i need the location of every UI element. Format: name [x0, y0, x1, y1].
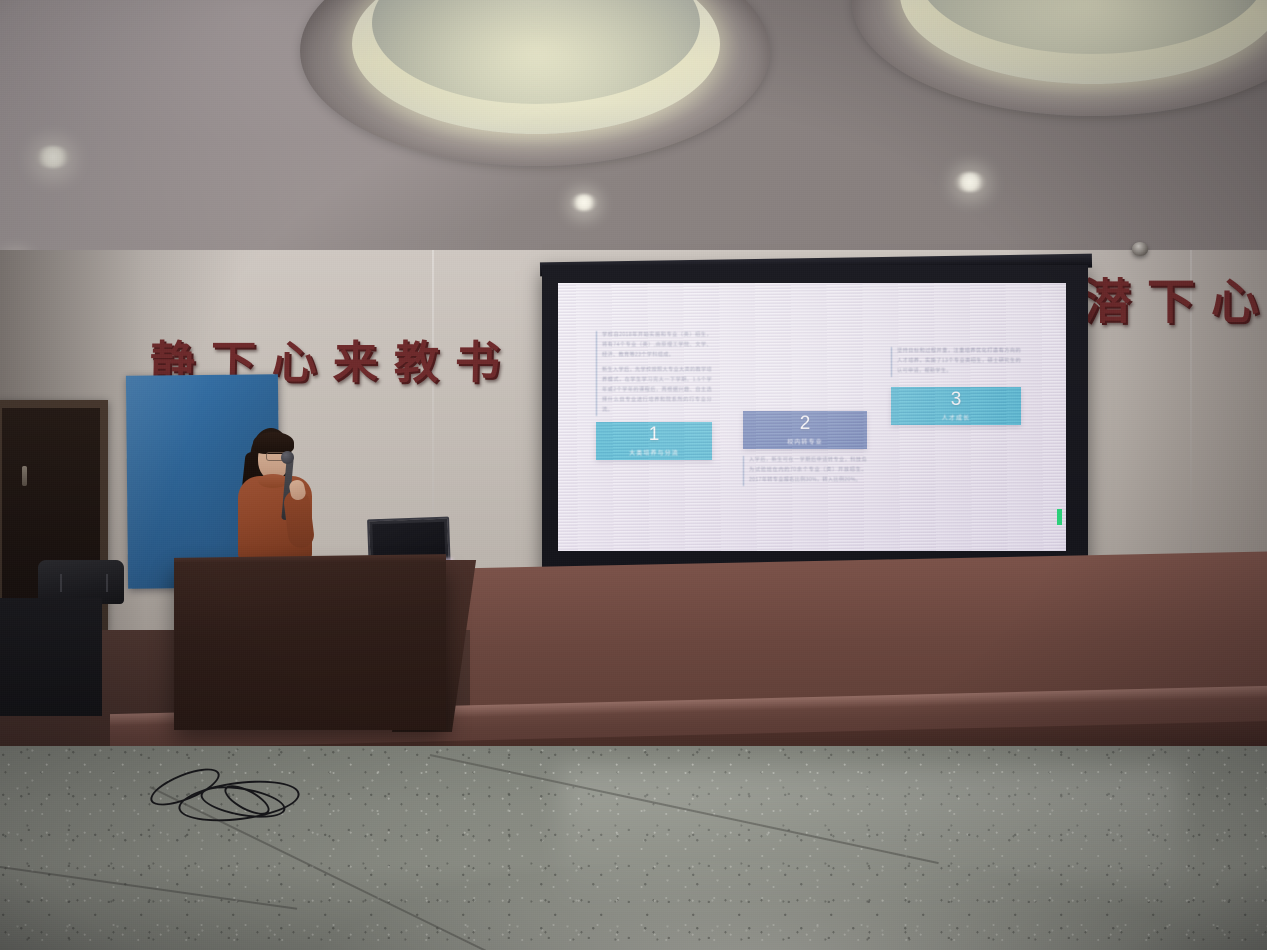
- screen-status-indicator: [1057, 509, 1062, 525]
- downlight-2: [570, 194, 598, 211]
- slide-number-2: 2: [800, 414, 811, 433]
- slide-caption-2: 校内转专业: [787, 437, 823, 446]
- slide-number-box-1: 1 大类培养与分流: [596, 422, 712, 460]
- chair-left-tuft: [60, 574, 108, 592]
- presentation-slide: 学校自2018年开始实施和专业（类）招生，将有74个专业（类）,由原理工学院、文…: [558, 283, 1066, 551]
- wall-slogan-right: 潜下心: [1083, 262, 1267, 332]
- podium: [174, 562, 446, 730]
- microphone-head-icon: [281, 451, 294, 464]
- slide-column-2-text: 入学后，新生可在一学期后申请转专业，科技岛为试验班在内的70余个专业（类）开放招…: [743, 456, 867, 486]
- slogan-left-char-3: 来: [332, 326, 378, 391]
- slogan-right-char-1: 下: [1147, 262, 1195, 332]
- downlight-3: [954, 172, 986, 192]
- slide-number-box-2: 2 校内转专业: [743, 411, 867, 449]
- slogan-left-char-4: 教: [393, 326, 439, 391]
- slide-column-3: 坚持目标和过程并重，注重培养优化打造有方向的人才培养，实施了13个专业类招生，硕…: [891, 347, 1021, 425]
- slide-col3-para-1: 坚持目标和过程并重，注重培养优化打造有方向的人才培养，实施了13个专业类招生，硕…: [897, 347, 1021, 377]
- lecture-hall-photo: 静下心来教书 潜下心 学校自2018年开始实施和专业（类）招生，将有74个专业（…: [0, 0, 1267, 950]
- slogan-left-char-2: 心: [271, 326, 317, 391]
- projection-screen-frame: 学校自2018年开始实施和专业（类）招生，将有74个专业（类）,由原理工学院、文…: [542, 265, 1088, 581]
- slide-col1-para-2: 新生入学后，先学校按照大专业大类的教学培养模式，在学生学习完大一下学期。1.5个…: [602, 366, 712, 416]
- slide-number-3: 3: [951, 390, 962, 409]
- slogan-right-char-2: 心: [1211, 262, 1259, 332]
- slide-number-1: 1: [649, 425, 660, 444]
- slide-column-1: 学校自2018年开始实施和专业（类）招生，将有74个专业（类）,由原理工学院、文…: [596, 331, 712, 460]
- slide-col2-para-1: 入学后，新生可在一学期后申请转专业，科技岛为试验班在内的70余个专业（类）开放招…: [749, 456, 867, 486]
- slide-column-1-text: 学校自2018年开始实施和专业（类）招生，将有74个专业（类）,由原理工学院、文…: [596, 331, 712, 416]
- downlight-1: [34, 146, 72, 168]
- slide-caption-1: 大类培养与分流: [629, 448, 679, 457]
- projection-screen-surface: 学校自2018年开始实施和专业（类）招生，将有74个专业（类）,由原理工学院、文…: [558, 283, 1066, 551]
- ceiling: [0, 0, 1267, 262]
- slide-caption-3: 人才成长: [942, 413, 970, 422]
- slide-col1-para-1: 学校自2018年开始实施和专业（类）招生，将有74个专业（类）,由原理工学院、文…: [602, 331, 712, 361]
- slide-number-box-3: 3 人才成长: [891, 387, 1021, 425]
- door-handle[interactable]: [22, 466, 27, 486]
- chair-left-seat: [0, 598, 102, 716]
- security-camera-icon: [1132, 242, 1148, 256]
- slide-column-2: 2 校内转专业 入学后，新生可在一学期后申请转专业，科技岛为试验班在内的70余个…: [743, 411, 867, 491]
- slide-column-3-text: 坚持目标和过程并重，注重培养优化打造有方向的人才培养，实施了13个专业类招生，硕…: [891, 347, 1021, 377]
- slogan-right-char-0: 潜: [1083, 262, 1131, 332]
- floor-light-reflection: [560, 766, 1180, 916]
- presenter: [226, 424, 322, 574]
- slogan-left-char-5: 书: [455, 326, 501, 391]
